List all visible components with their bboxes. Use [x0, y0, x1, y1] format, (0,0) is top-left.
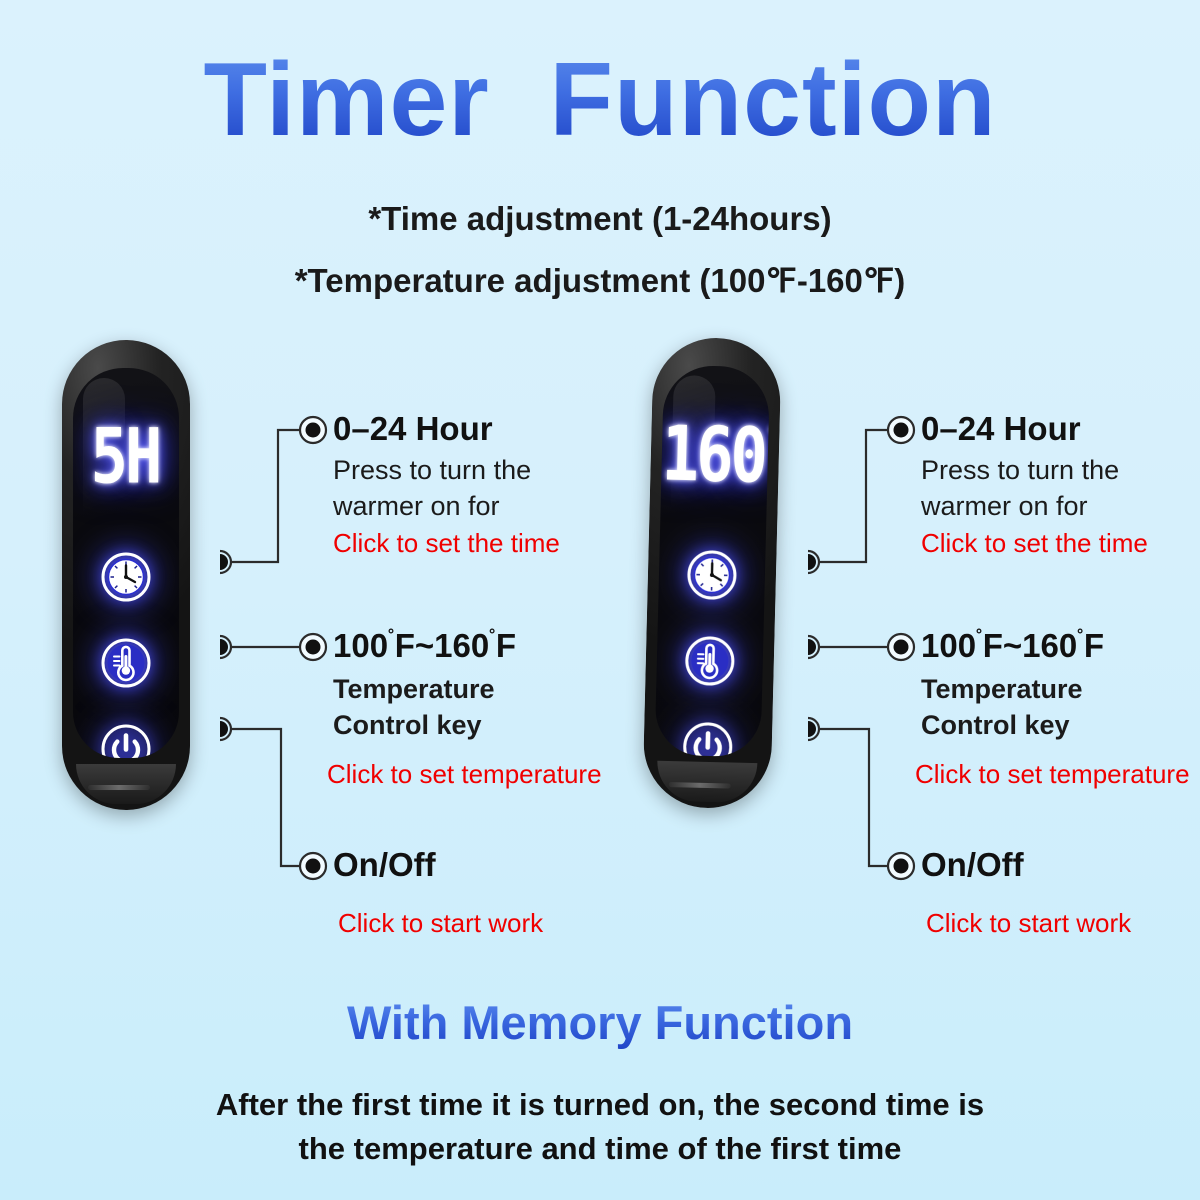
anchor-power-right — [808, 718, 819, 740]
power-icon — [101, 724, 151, 758]
leader-line-timer-left — [232, 430, 301, 562]
callout-timer-right: 0–24 Hour Press to turn the warmer on fo… — [921, 411, 1148, 561]
clock-icon — [686, 549, 737, 600]
device-panel: 160°F — [655, 365, 770, 757]
anchor-temp-left — [220, 636, 231, 658]
degree-symbol-2: ˚ — [1077, 628, 1084, 650]
power-icon — [682, 721, 733, 757]
infographic-page: Timer Function *Time adjustment (1-24hou… — [0, 0, 1200, 1200]
power-key-right[interactable] — [680, 719, 735, 757]
bullet-timer-left — [300, 417, 326, 443]
bullet-temp-left — [300, 634, 326, 660]
callout-body-line2: Control key — [921, 708, 1190, 744]
callout-timer-left: 0–24 Hour Press to turn the warmer on fo… — [333, 411, 560, 561]
degree-symbol-1: ˚ — [388, 628, 395, 650]
device-panel: 5H — [73, 368, 179, 758]
callout-body-line2: warmer on for — [333, 489, 560, 525]
lcd-display-left: 5H — [73, 426, 179, 488]
anchor-clock-left — [220, 551, 231, 573]
callout-note: Click to start work — [926, 907, 1131, 941]
clock-key-left[interactable] — [99, 550, 153, 604]
memory-function-description: After the first time it is turned on, th… — [0, 1083, 1200, 1171]
callout-note: Click to set temperature — [915, 758, 1190, 792]
anchor-clock-right — [808, 551, 819, 573]
callout-temperature-left: 100˚F~160˚F Temperature Control key Clic… — [333, 628, 602, 792]
callout-power-right: On/Off Click to start work — [921, 847, 1131, 941]
temp-min: 100 — [921, 627, 976, 664]
callout-power-left: On/Off Click to start work — [333, 847, 543, 941]
lcd-display-right: 160°F — [661, 423, 768, 488]
callout-body-line1: Temperature — [333, 672, 602, 708]
fahrenheit-2: F — [496, 627, 516, 664]
temperature-key-left[interactable] — [99, 636, 153, 690]
thermometer-icon — [684, 635, 735, 686]
bullet-temp-right — [888, 634, 914, 660]
callout-heading: 100˚F~160˚F — [921, 628, 1190, 664]
bullet-power-left — [300, 853, 326, 879]
clock-icon — [101, 552, 151, 602]
degree-symbol-1: ˚ — [976, 628, 983, 650]
bullet-power-right — [888, 853, 914, 879]
temp-max: ~160 — [1003, 627, 1077, 664]
callout-temperature-right: 100˚F~160˚F Temperature Control key Clic… — [921, 628, 1190, 792]
bullet-timer-right — [888, 417, 914, 443]
callout-note: Click to set temperature — [327, 758, 602, 792]
subtitle-temperature: *Temperature adjustment (100℉-160℉) — [0, 261, 1200, 300]
temperature-key-right[interactable] — [682, 633, 737, 688]
callout-body-line2: warmer on for — [921, 489, 1148, 525]
memory-desc-line2: the temperature and time of the first ti… — [299, 1131, 902, 1166]
anchor-power-left — [220, 718, 231, 740]
callout-body-line1: Press to turn the — [921, 453, 1148, 489]
device-left: 5H — [62, 340, 190, 810]
fahrenheit-2: F — [1084, 627, 1104, 664]
callout-heading: 0–24 Hour — [333, 411, 560, 447]
leader-line-timer-right — [820, 430, 889, 562]
callout-heading: On/Off — [921, 847, 1131, 883]
fahrenheit-1: F — [983, 627, 1003, 664]
callout-body-line1: Press to turn the — [333, 453, 560, 489]
degree-symbol-2: ˚ — [489, 628, 496, 650]
page-title: Timer Function — [0, 46, 1200, 155]
device-right: 160°F — [642, 337, 781, 810]
power-key-left[interactable] — [99, 722, 153, 758]
callout-note: Click to set the time — [333, 527, 560, 561]
memory-function-title: With Memory Function — [0, 995, 1200, 1050]
fahrenheit-1: F — [395, 627, 415, 664]
leader-line-power-left — [232, 729, 301, 866]
callout-body-line2: Control key — [333, 708, 602, 744]
callout-heading: 100˚F~160˚F — [333, 628, 602, 664]
thermometer-icon — [101, 638, 151, 688]
subtitle-time: *Time adjustment (1-24hours) — [0, 200, 1200, 238]
device-foot-highlight — [88, 785, 150, 790]
temp-min: 100 — [333, 627, 388, 664]
callout-heading: On/Off — [333, 847, 543, 883]
clock-key-right[interactable] — [684, 547, 739, 602]
callout-heading: 0–24 Hour — [921, 411, 1148, 447]
anchor-temp-right — [808, 636, 819, 658]
callout-body-line1: Temperature — [921, 672, 1190, 708]
memory-desc-line1: After the first time it is turned on, th… — [216, 1087, 984, 1122]
leader-line-power-right — [820, 729, 889, 866]
temp-max: ~160 — [415, 627, 489, 664]
lcd-value: 160 — [661, 416, 766, 494]
lcd-value: 5H — [91, 419, 160, 495]
callout-note: Click to set the time — [921, 527, 1148, 561]
callout-note: Click to start work — [338, 907, 543, 941]
